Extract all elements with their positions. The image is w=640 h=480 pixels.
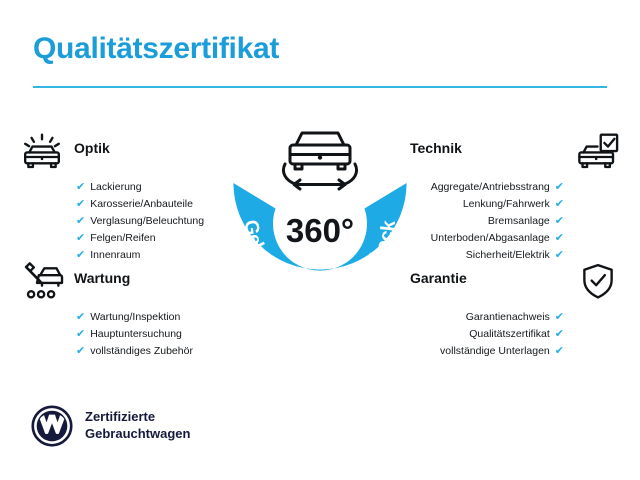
check-icon: ✔ xyxy=(76,199,85,210)
list-item: ✔ Bremsanlage xyxy=(410,213,564,230)
check-icon: ✔ xyxy=(76,182,85,193)
section-title-garantie: Garantie xyxy=(410,270,467,291)
list-item: ✔ Hauptuntersuchung xyxy=(76,326,230,343)
service-book-icon xyxy=(20,262,64,302)
list-item: ✔ Qualitätszertifikat xyxy=(410,326,564,343)
checklist-technik: ✔ Aggregate/Antriebsstrang ✔ Lenkung/Fah… xyxy=(410,179,620,264)
list-item: ✔ Felgen/Reifen xyxy=(76,230,230,247)
list-item-label: Felgen/Reifen xyxy=(90,230,155,247)
check-icon: ✔ xyxy=(76,233,85,244)
section-garantie: Garantie ✔ Garantienachweis ✔ Qualitätsz… xyxy=(410,262,620,360)
badge-center-label: 360° xyxy=(286,212,354,249)
car-checkbox-icon xyxy=(576,132,620,172)
check-icon: ✔ xyxy=(555,199,564,210)
list-item: ✔ Wartung/Inspektion xyxy=(76,309,230,326)
list-item-label: Aggregate/Antriebsstrang xyxy=(431,179,550,196)
check-icon: ✔ xyxy=(76,346,85,357)
checklist-wartung: ✔ Wartung/Inspektion ✔ Hauptuntersuchung… xyxy=(20,309,230,360)
list-item-label: Lackierung xyxy=(90,179,141,196)
section-technik: Technik ✔ Aggregate/Antriebsstrang ✔ Len… xyxy=(410,132,620,264)
list-item-label: Garantienachweis xyxy=(466,309,550,326)
footer-text: Zertifizierte Gebrauchtwagen xyxy=(85,409,190,442)
list-item: ✔ Verglasung/Beleuchtung xyxy=(76,213,230,230)
list-item-label: vollständiges Zubehör xyxy=(90,343,193,360)
section-wartung: Wartung ✔ Wartung/Inspektion ✔ Hauptunte… xyxy=(20,262,230,360)
shield-check-icon xyxy=(576,262,620,302)
list-item: ✔ vollständige Unterlagen xyxy=(410,343,564,360)
vw-logo xyxy=(31,405,73,447)
list-item: ✔ vollständiges Zubehör xyxy=(76,343,230,360)
list-item-label: Unterboden/Abgasanlage xyxy=(431,230,550,247)
list-item-label: Qualitätszertifikat xyxy=(469,326,550,343)
check-icon: ✔ xyxy=(555,233,564,244)
list-item-label: vollständige Unterlagen xyxy=(440,343,550,360)
check-icon: ✔ xyxy=(555,250,564,261)
check-icon: ✔ xyxy=(555,346,564,357)
list-item: ✔ Unterboden/Abgasanlage xyxy=(410,230,564,247)
check-icon: ✔ xyxy=(555,182,564,193)
check-icon: ✔ xyxy=(555,312,564,323)
list-item: ✔ Lenkung/Fahrwerk xyxy=(410,196,564,213)
certificate-page: Qualitätszertifikat xyxy=(0,0,640,480)
section-optik: Optik ✔ Lackierung ✔ Karosserie/Anbautei… xyxy=(20,132,230,264)
list-item: ✔ Garantienachweis xyxy=(410,309,564,326)
list-item-label: Karosserie/Anbauteile xyxy=(90,196,193,213)
footer-branding: Zertifizierte Gebrauchtwagen xyxy=(31,405,190,447)
check-icon: ✔ xyxy=(76,216,85,227)
checklist-optik: ✔ Lackierung ✔ Karosserie/Anbauteile ✔ V… xyxy=(20,179,230,264)
check-icon: ✔ xyxy=(76,250,85,261)
section-title-optik: Optik xyxy=(74,140,110,161)
check-icon: ✔ xyxy=(76,329,85,340)
car-shine-icon xyxy=(20,132,64,172)
badge-360-gebrauchtwagen-check: Gebrauchtwagen-Check 360° xyxy=(222,118,418,318)
check-icon: ✔ xyxy=(555,216,564,227)
section-title-wartung: Wartung xyxy=(74,270,130,291)
checklist-garantie: ✔ Garantienachweis ✔ Qualitätszertifikat… xyxy=(410,309,620,360)
list-item: ✔ Aggregate/Antriebsstrang xyxy=(410,179,564,196)
page-title: Qualitätszertifikat xyxy=(33,34,279,64)
list-item-label: Wartung/Inspektion xyxy=(90,309,180,326)
title-divider xyxy=(33,86,607,88)
list-item-label: Verglasung/Beleuchtung xyxy=(90,213,204,230)
list-item: ✔ Karosserie/Anbauteile xyxy=(76,196,230,213)
list-item-label: Lenkung/Fahrwerk xyxy=(463,196,550,213)
check-icon: ✔ xyxy=(76,312,85,323)
list-item: ✔ Lackierung xyxy=(76,179,230,196)
check-icon: ✔ xyxy=(555,329,564,340)
list-item-label: Bremsanlage xyxy=(488,213,550,230)
car-rotate-icon xyxy=(283,133,356,189)
list-item-label: Hauptuntersuchung xyxy=(90,326,182,343)
